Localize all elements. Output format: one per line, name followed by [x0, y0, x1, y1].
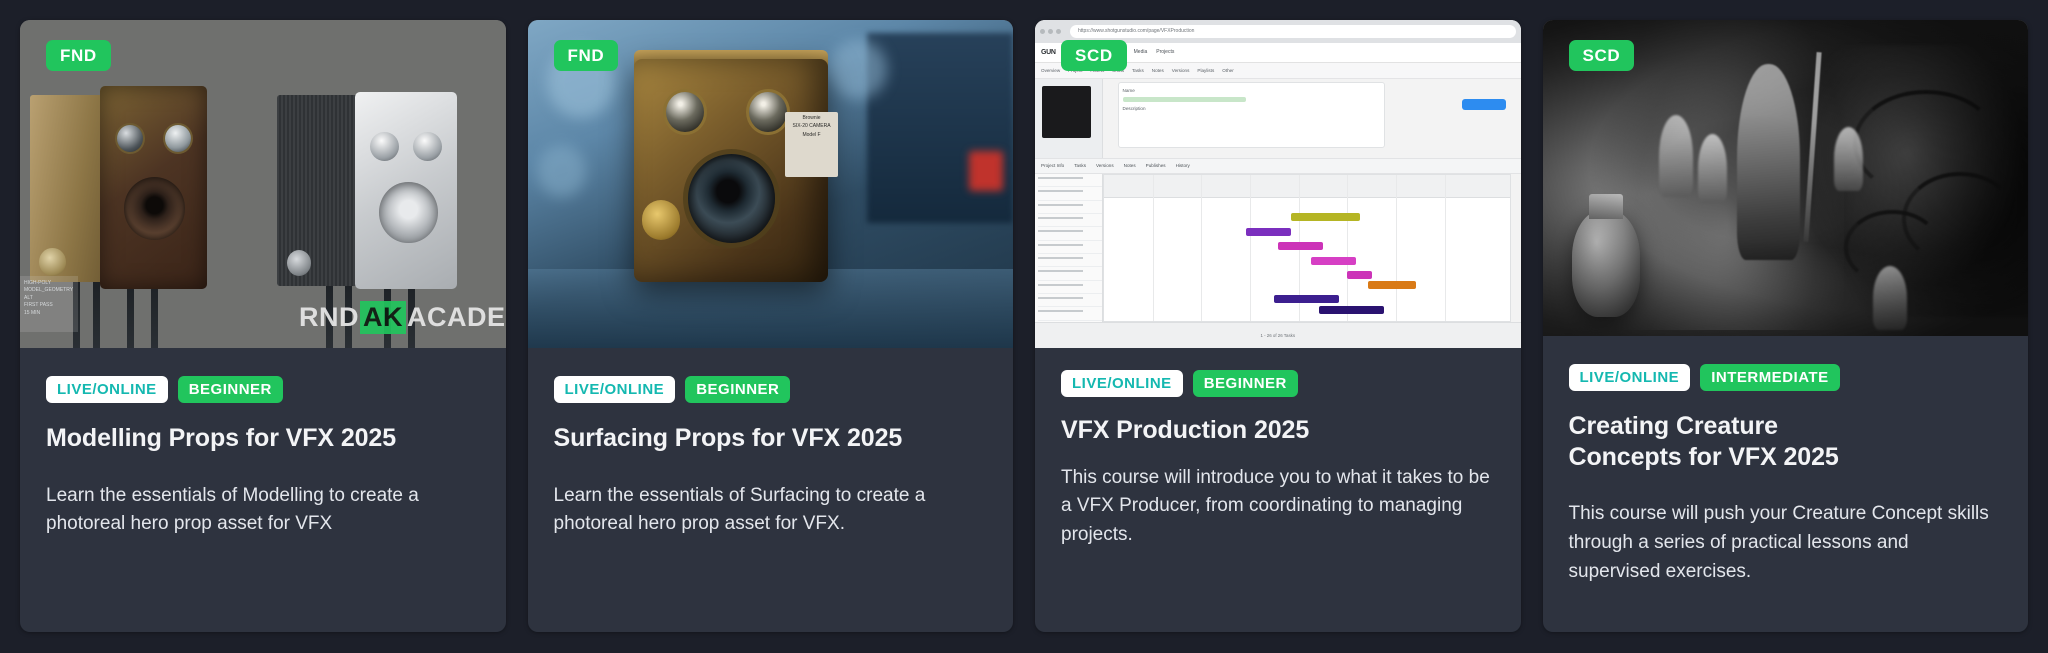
gantt-bar [1246, 228, 1291, 236]
course-card[interactable]: HIGH-POLY MODEL_GEOMETRY ALT FIRST PASS … [20, 20, 506, 632]
toolbar-item: Overview [1041, 68, 1060, 73]
tab: Publishes [1146, 163, 1166, 168]
camera-one-viewfinder-left [115, 123, 145, 154]
format-badge: LIVE/ONLINE [554, 376, 676, 403]
card-thumbnail[interactable]: SCD [1543, 20, 2029, 336]
nav-item: Projects [1156, 49, 1174, 55]
update-button [1462, 99, 1506, 110]
card-body: LIVE/ONLINE BEGINNER Surfacing Props for… [528, 348, 1014, 632]
level-badge: BEGINNER [1193, 370, 1298, 397]
format-badge: LIVE/ONLINE [1061, 370, 1183, 397]
camera-two-viewfinder-left [370, 132, 399, 162]
course-card[interactable]: Brownie SIX-20 CAMERA Model F FND LIVE/O… [528, 20, 1014, 632]
form-field-label: Description [1123, 105, 1380, 114]
camera-one-lens [124, 177, 185, 239]
gantt-bar [1274, 295, 1339, 303]
card-thumbnail[interactable]: HIGH-POLY MODEL_GEOMETRY ALT FIRST PASS … [20, 20, 506, 348]
toolbar-item: Versions [1172, 68, 1190, 73]
app-logo: GUN [1041, 49, 1056, 56]
camera-one-winding-knob [39, 248, 66, 276]
badge-row: LIVE/ONLINE INTERMEDIATE [1569, 364, 2003, 391]
brand-watermark: RND AK ACADE [299, 301, 506, 334]
browser-url: https://www.shotgunstudio.com/page/VFXPr… [1070, 25, 1516, 38]
card-thumbnail[interactable]: Brownie SIX-20 CAMERA Model F FND [528, 20, 1014, 348]
card-thumbnail[interactable]: https://www.shotgunstudio.com/page/VFXPr… [1035, 20, 1521, 348]
card-body: LIVE/ONLINE BEGINNER Modelling Props for… [20, 348, 506, 632]
detail-tabs: Project Info Tasks Versions Notes Publis… [1035, 158, 1521, 174]
highlighted-field [1123, 97, 1246, 102]
camera-two-lens [379, 182, 437, 243]
level-badge: BEGINNER [178, 376, 283, 403]
course-title: VFX Production 2025 [1061, 415, 1495, 446]
camera-shutter-dial [642, 200, 681, 239]
nav-item: Media [1134, 49, 1148, 55]
camera-viewfinder-right [746, 89, 790, 135]
gantt-bar [1368, 281, 1417, 289]
video-thumbnail [1042, 86, 1091, 138]
badge-row: LIVE/ONLINE BEGINNER [554, 376, 988, 403]
tab: History [1176, 163, 1190, 168]
tab: Versions [1096, 163, 1114, 168]
task-list-panel [1035, 174, 1103, 322]
tab: Tasks [1074, 163, 1086, 168]
toolbar-item: Tasks [1132, 68, 1144, 73]
category-badge: FND [46, 40, 111, 71]
category-badge: SCD [1569, 40, 1635, 71]
gantt-bar [1278, 242, 1323, 250]
camera-lens [688, 154, 775, 243]
watermark-highlight: AK [360, 301, 406, 334]
course-description: Learn the essentials of Modelling to cre… [46, 482, 480, 540]
model-spec-overlay: HIGH-POLY MODEL_GEOMETRY ALT FIRST PASS … [20, 276, 78, 332]
gantt-bar [1311, 257, 1356, 265]
background-red-light-blur [969, 151, 1003, 190]
course-description: Learn the essentials of Surfacing to cre… [554, 482, 988, 540]
gantt-bar [1347, 271, 1371, 279]
badge-row: LIVE/ONLINE BEGINNER [46, 376, 480, 403]
background-truck-blur [867, 33, 1013, 223]
tab: Project Info [1041, 163, 1064, 168]
gantt-footer-status: 1 - 26 of 26 Tasks [1035, 322, 1521, 348]
category-badge: FND [554, 40, 619, 71]
card-body: LIVE/ONLINE INTERMEDIATE Creating Creatu… [1543, 336, 2029, 632]
level-badge: INTERMEDIATE [1700, 364, 1839, 391]
gantt-chart [1103, 174, 1511, 322]
course-description: This course will introduce you to what i… [1061, 464, 1495, 551]
watermark-prefix: RND [299, 302, 359, 333]
gantt-bar [1291, 213, 1360, 221]
format-badge: LIVE/ONLINE [46, 376, 168, 403]
camera-two-winding-knob [287, 250, 311, 276]
form-field-label: Name [1123, 87, 1380, 96]
gantt-timeline-header [1104, 175, 1510, 198]
detail-form-card: Name Description [1118, 82, 1385, 148]
format-badge: LIVE/ONLINE [1569, 364, 1691, 391]
tab: Notes [1124, 163, 1136, 168]
camera-viewfinder-left [663, 89, 707, 135]
watermark-suffix: ACADE [407, 302, 506, 333]
course-card[interactable]: SCD LIVE/ONLINE INTERMEDIATE Creating Cr… [1543, 20, 2029, 632]
gantt-bar [1319, 306, 1384, 314]
course-description: This course will push your Creature Conc… [1569, 500, 2003, 587]
badge-row: LIVE/ONLINE BEGINNER [1061, 370, 1495, 397]
course-title: Creating Creature Concepts for VFX 2025 [1569, 411, 1869, 472]
toolbar-item: Playlists [1197, 68, 1214, 73]
course-title: Modelling Props for VFX 2025 [46, 423, 480, 454]
category-badge: SCD [1061, 40, 1127, 71]
card-body: LIVE/ONLINE BEGINNER VFX Production 2025… [1035, 348, 1521, 632]
level-badge: BEGINNER [685, 376, 790, 403]
camera-name-plate: Brownie SIX-20 CAMERA Model F [785, 112, 838, 178]
toolbar-item: Notes [1152, 68, 1164, 73]
course-card-grid: HIGH-POLY MODEL_GEOMETRY ALT FIRST PASS … [0, 0, 2048, 653]
course-card[interactable]: https://www.shotgunstudio.com/page/VFXPr… [1035, 20, 1521, 632]
course-title: Surfacing Props for VFX 2025 [554, 423, 988, 454]
toolbar-item: Other [1222, 68, 1234, 73]
